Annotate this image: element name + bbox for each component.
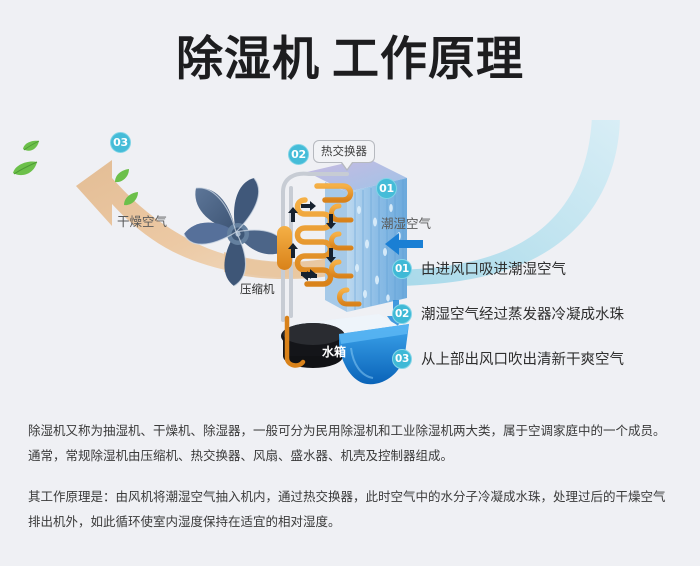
list-item: 03 从上部出风口吹出清新干爽空气: [392, 348, 692, 369]
step-text-02: 潮湿空气经过蒸发器冷凝成水珠: [421, 303, 624, 324]
caption-dry-air: 干燥空气: [117, 211, 167, 230]
page-title: 除湿机工作原理: [0, 34, 700, 86]
page-title-part1: 除湿机: [176, 32, 320, 87]
leaf-icon: [12, 160, 38, 179]
body-paragraph-1: 除湿机又称为抽湿机、干燥机、除湿器，一般可分为民用除湿机和工业除湿机两大类，属于…: [28, 418, 676, 468]
leaf-icon: [113, 168, 130, 184]
steps-list: 01 由进风口吸进潮湿空气 02 潮湿空气经过蒸发器冷凝成水珠 03 从上部出风…: [392, 258, 692, 393]
list-item: 02 潮湿空气经过蒸发器冷凝成水珠: [392, 303, 692, 324]
caption-humid-air: 潮湿空气: [381, 213, 431, 232]
diagram-badge-02: 02: [288, 144, 309, 165]
step-badge-02: 02: [392, 304, 412, 324]
step-badge-03: 03: [392, 349, 412, 369]
page-title-part2: 工作原理: [332, 32, 524, 87]
step-badge-01: 01: [392, 259, 412, 279]
body-paragraph-2: 其工作原理是：由风机将潮湿空气抽入机内，通过热交换器，此时空气中的水分子冷凝成水…: [28, 484, 676, 534]
step-text-03: 从上部出风口吹出清新干爽空气: [421, 348, 624, 369]
label-water-tank: 水箱: [322, 343, 346, 360]
diagram-badge-01: 01: [376, 178, 397, 199]
step-text-01: 由进风口吸进潮湿空气: [421, 258, 566, 279]
list-item: 01 由进风口吸进潮湿空气: [392, 258, 692, 279]
callout-heat-exchanger: 热交换器: [313, 140, 375, 163]
diagram-badge-03: 03: [110, 132, 131, 153]
body-copy: 除湿机又称为抽湿机、干燥机、除湿器，一般可分为民用除湿机和工业除湿机两大类，属于…: [28, 418, 676, 534]
leaf-icon: [122, 191, 139, 207]
poster-root: 除湿机工作原理: [0, 0, 700, 566]
label-compressor: 压缩机: [240, 281, 275, 297]
leaf-icon: [22, 140, 40, 154]
